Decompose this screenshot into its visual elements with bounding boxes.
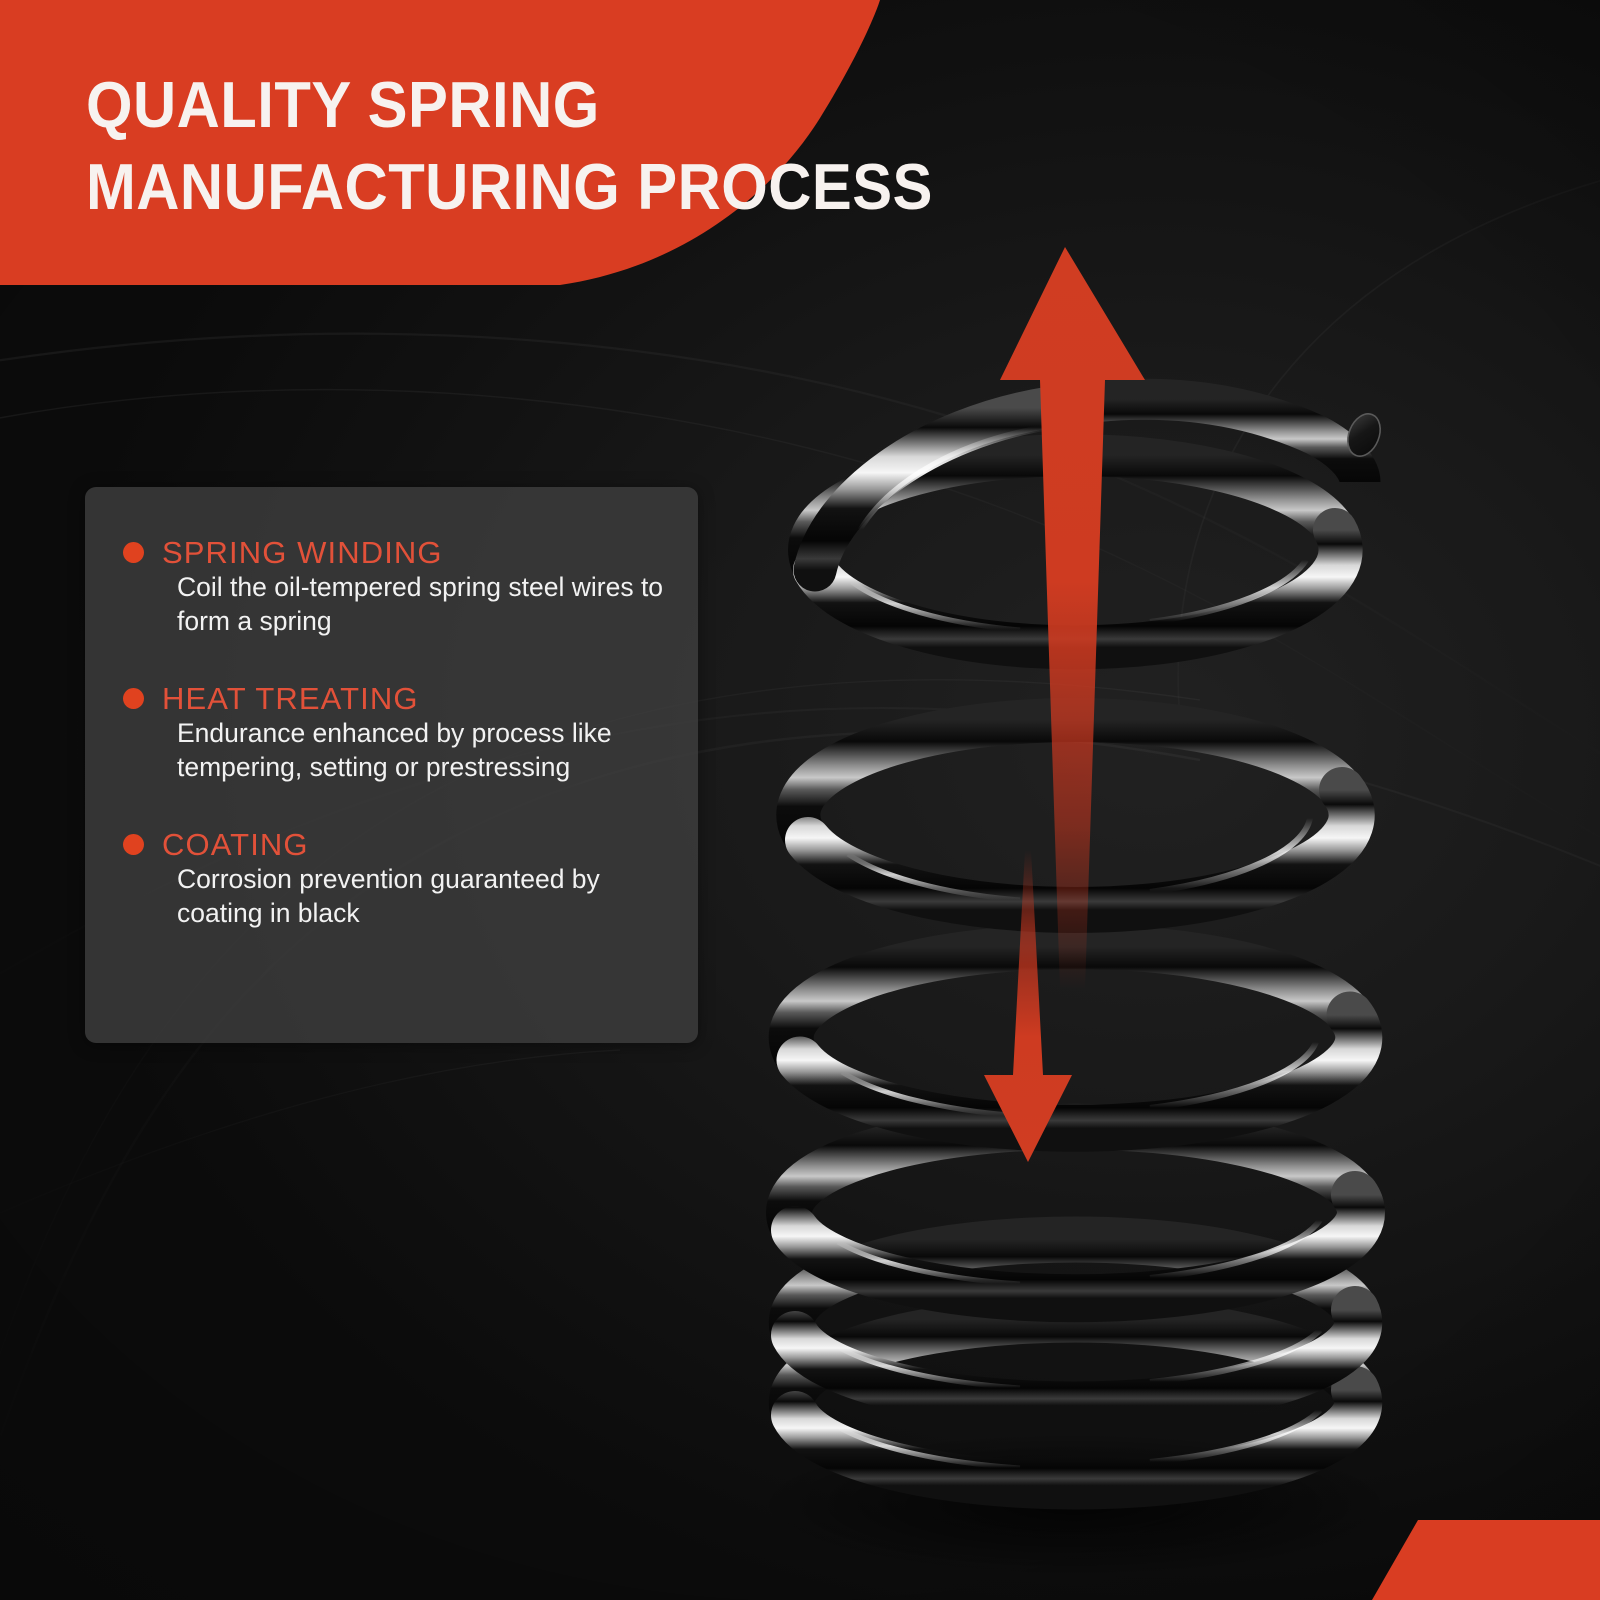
bullet-title: SPRING WINDING <box>162 537 443 568</box>
coil-spring-image <box>720 230 1440 1600</box>
page-title: QUALITY SPRING MANUFACTURING PROCESS <box>86 72 1386 236</box>
bullet-heading-row: SPRING WINDING <box>123 537 672 568</box>
bullet-title: COATING <box>162 829 309 860</box>
bullet-dot-icon <box>123 688 144 709</box>
list-item: COATING Corrosion prevention guaranteed … <box>123 829 672 931</box>
bullet-heading-row: HEAT TREATING <box>123 683 672 714</box>
list-item: SPRING WINDING Coil the oil-tempered spr… <box>123 537 672 639</box>
bullet-description: Endurance enhanced by process like tempe… <box>177 717 672 785</box>
process-bullet-list: SPRING WINDING Coil the oil-tempered spr… <box>123 537 672 930</box>
list-item: HEAT TREATING Endurance enhanced by proc… <box>123 683 672 785</box>
bullet-description: Corrosion prevention guaranteed by coati… <box>177 863 672 931</box>
corner-accent-shape <box>1350 1520 1600 1600</box>
bullet-description: Coil the oil-tempered spring steel wires… <box>177 571 672 639</box>
title-line-1: QUALITY SPRING <box>86 72 1282 137</box>
bullet-heading-row: COATING <box>123 829 672 860</box>
bullet-dot-icon <box>123 542 144 563</box>
process-info-panel: SPRING WINDING Coil the oil-tempered spr… <box>85 487 698 1043</box>
infographic-canvas: QUALITY SPRING MANUFACTURING PROCESS <box>0 0 1600 1600</box>
bullet-title: HEAT TREATING <box>162 683 419 714</box>
title-line-2: MANUFACTURING PROCESS <box>86 154 1282 219</box>
bullet-dot-icon <box>123 834 144 855</box>
